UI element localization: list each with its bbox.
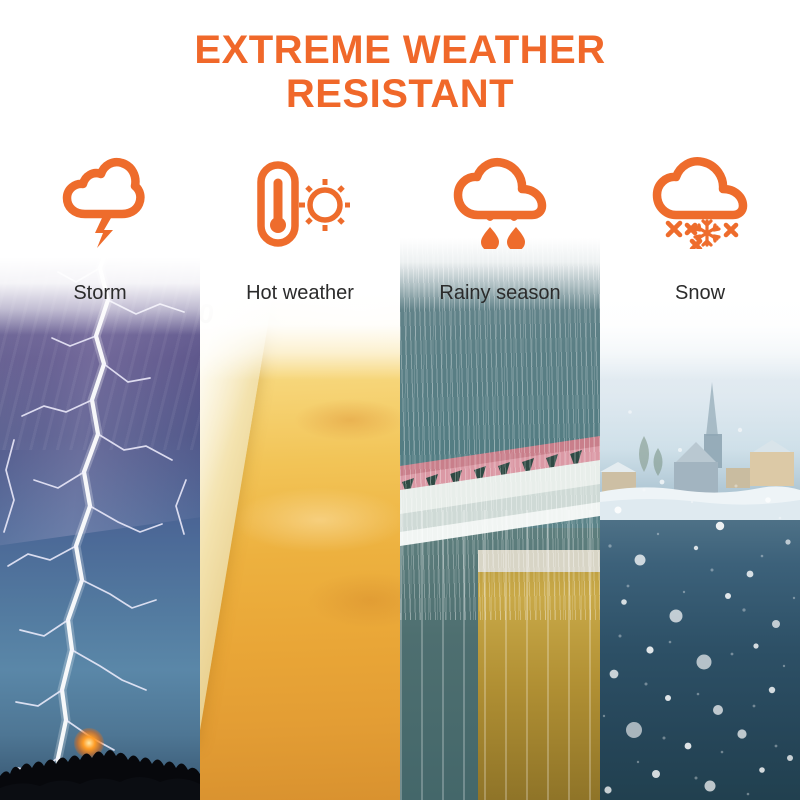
title-line-1: EXTREME WEATHER <box>194 28 605 72</box>
snow-icon-wrap <box>600 150 800 255</box>
storm-label: Storm <box>0 282 200 305</box>
title-line-2: RESISTANT <box>0 72 800 116</box>
rain-cloud-icon <box>450 157 550 249</box>
weather-columns: Storm °F 120 100 80 60 40 <box>0 150 800 800</box>
tree-silhouettes <box>0 726 200 800</box>
thermometer-sun-icon <box>250 157 350 249</box>
snow-label: Snow <box>600 282 800 305</box>
weather-column-storm: Storm <box>0 150 200 800</box>
infographic-board: EXTREME WEATHER RESISTANT <box>0 0 800 800</box>
cloud-lightning-icon <box>55 157 145 249</box>
weather-column-snow: Snow <box>600 150 800 800</box>
rainy-season-label: Rainy season <box>400 282 600 305</box>
roof-drips <box>400 510 600 800</box>
page-title: EXTREME WEATHER RESISTANT <box>0 28 800 116</box>
weather-column-rain: Rainy season <box>400 150 600 800</box>
weather-column-hot: °F 120 100 80 60 40 20 0 20 0 <box>200 150 400 800</box>
snow-cloud-icon <box>650 157 750 249</box>
rain-icon-wrap <box>400 150 600 255</box>
storm-icon-wrap <box>0 150 200 255</box>
hot-icon-wrap <box>200 150 400 255</box>
hot-weather-label: Hot weather <box>200 282 400 305</box>
